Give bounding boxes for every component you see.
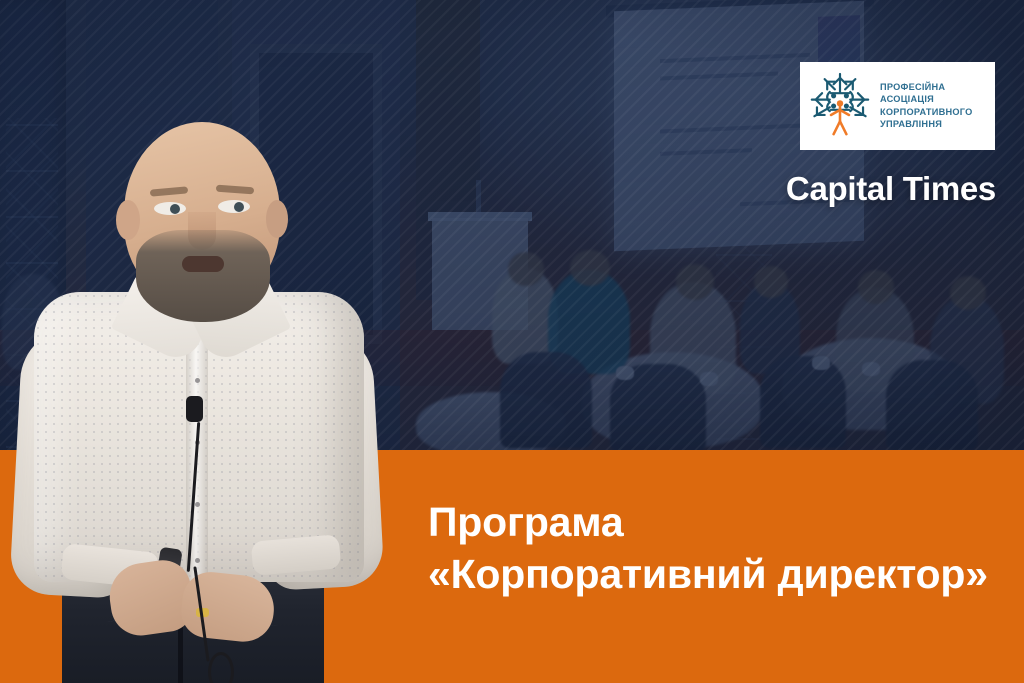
headline-line-1: Програма xyxy=(428,499,623,545)
shirt-button xyxy=(195,558,200,563)
logo-line-3: КОРПОРАТИВНОГО xyxy=(880,107,973,119)
headline-line-2: «Корпоративний директор» xyxy=(428,548,1008,600)
logo-line-2: АСОЦІАЦІЯ xyxy=(880,94,973,106)
speaker-pupil xyxy=(170,204,180,214)
brand-wordmark: Capital Times xyxy=(740,170,996,208)
association-logo-text: ПРОФЕСІЙНА АСОЦІАЦІЯ КОРПОРАТИВНОГО УПРА… xyxy=(880,82,973,131)
speaker-ear xyxy=(116,200,140,240)
speaker-beard xyxy=(136,230,270,322)
shirt-button xyxy=(195,502,200,507)
banner-stage: ПРОФЕСІЙНА АСОЦІАЦІЯ КОРПОРАТИВНОГО УПРА… xyxy=(0,0,1024,683)
shirt-button xyxy=(195,378,200,383)
lapel-microphone xyxy=(186,396,203,422)
speaker-photo-cutout xyxy=(0,96,430,683)
snowflake-network-with-person-mark xyxy=(808,69,872,143)
association-logo: ПРОФЕСІЙНА АСОЦІАЦІЯ КОРПОРАТИВНОГО УПРА… xyxy=(800,62,995,150)
logo-line-4: УПРАВЛІННЯ xyxy=(880,119,973,131)
logo-line-1: ПРОФЕСІЙНА xyxy=(880,82,973,94)
speaker-ear xyxy=(266,200,288,238)
headline: Програма «Корпоративний директор» xyxy=(428,496,1008,600)
speaker-pupil xyxy=(234,202,244,212)
speaker-mouth xyxy=(182,256,224,272)
